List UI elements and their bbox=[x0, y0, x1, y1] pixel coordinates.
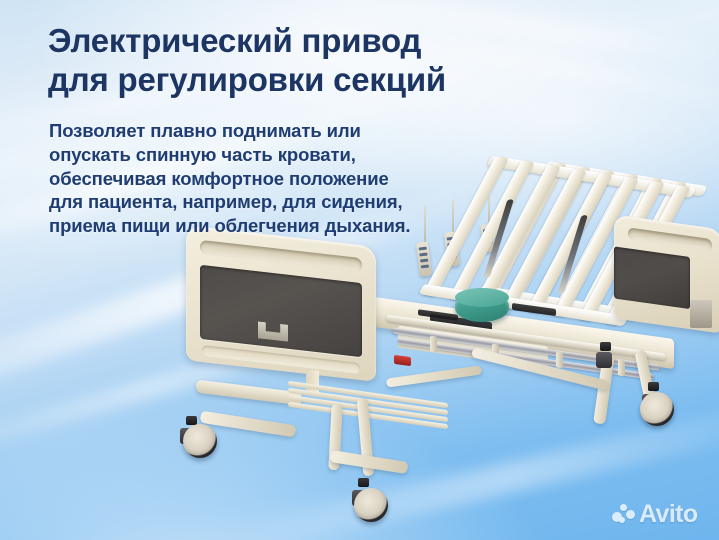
caster-stem bbox=[600, 342, 611, 351]
headboard bbox=[186, 225, 376, 382]
page-title: Электрический привод для регулировки сек… bbox=[48, 21, 668, 99]
footboard-panel bbox=[614, 246, 690, 309]
caster-wheel bbox=[183, 424, 217, 458]
avito-dots-icon bbox=[612, 504, 635, 526]
release-lever bbox=[394, 355, 411, 366]
listing-image-canvas: Электрический привод для регулировки сек… bbox=[0, 0, 719, 540]
caster-stem bbox=[648, 382, 659, 391]
caster-stem bbox=[358, 478, 369, 487]
extension-arm bbox=[196, 379, 302, 405]
side-rail-post bbox=[618, 360, 625, 377]
footboard-hinge bbox=[690, 300, 712, 328]
head-cushion-top bbox=[455, 288, 509, 307]
scissor-arm bbox=[386, 365, 482, 387]
description-text: Позволяет плавно поднимать или опускать … bbox=[49, 119, 529, 238]
footboard-handle-slot bbox=[628, 227, 712, 251]
side-rail-post bbox=[556, 352, 563, 369]
caster-wheel bbox=[640, 392, 674, 426]
avito-brand-label: Avito bbox=[639, 502, 698, 527]
avito-watermark: Avito bbox=[612, 502, 698, 527]
caster-wheel bbox=[354, 488, 388, 522]
caster-yoke bbox=[596, 352, 612, 368]
headboard-panel bbox=[200, 265, 362, 357]
side-rail-post bbox=[430, 336, 437, 353]
